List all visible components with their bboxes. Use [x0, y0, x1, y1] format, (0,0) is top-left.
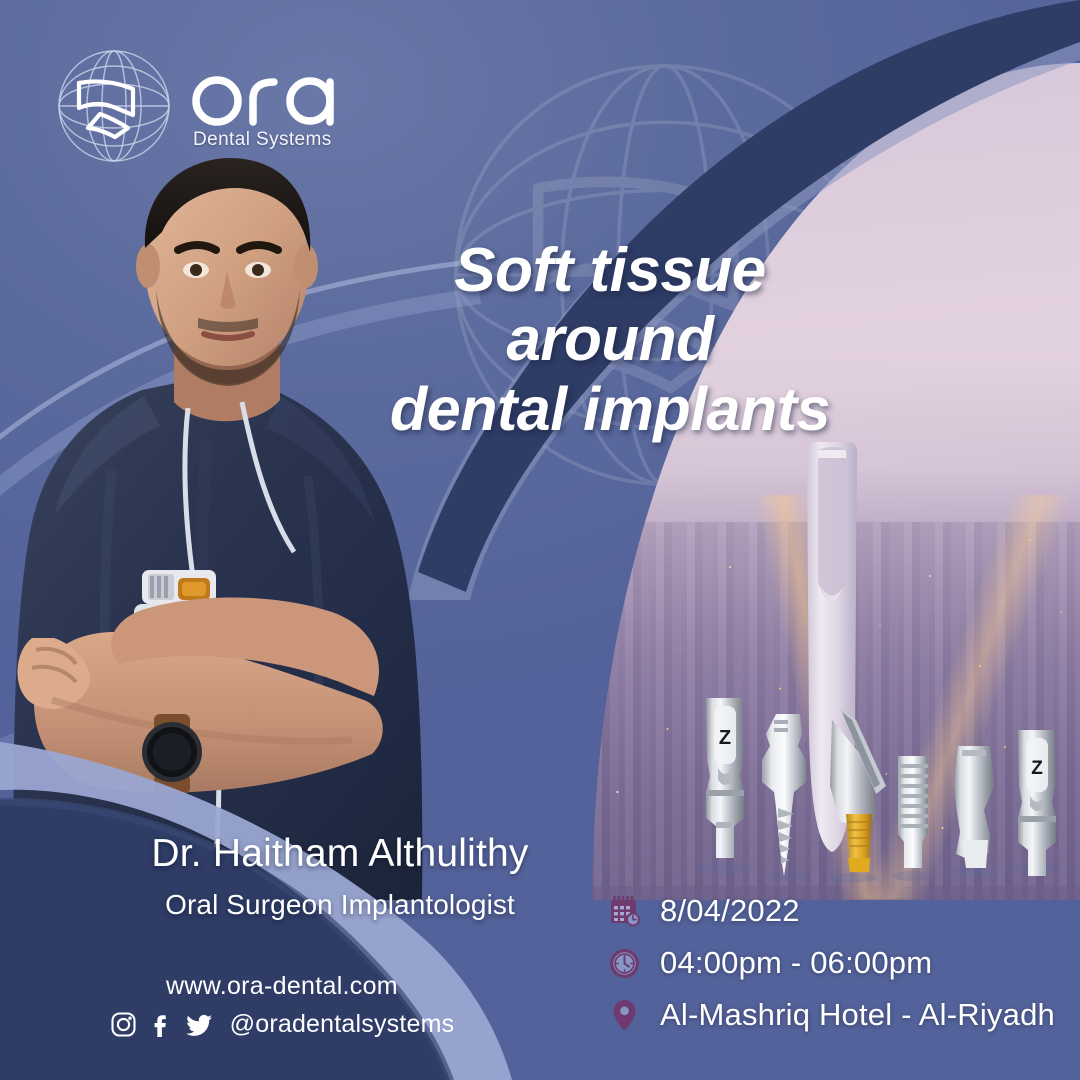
speaker-name: Dr. Haitham Althulithy [70, 832, 610, 876]
globe-tooth-icon [52, 44, 176, 168]
brand-logo: Dental Systems [52, 44, 342, 168]
brand-name-ora [190, 65, 342, 127]
detail-row-time: 04:00pm - 06:00pm [608, 945, 1055, 981]
speaker-role: Oral Surgeon Implantologist [70, 889, 610, 921]
website-link[interactable]: www.ora-dental.com [72, 972, 492, 1001]
social-handle[interactable]: @oradentalsystems [230, 1010, 455, 1039]
clock-icon [608, 946, 641, 981]
detail-value-date: 8/04/2022 [660, 893, 800, 929]
facebook-icon[interactable] [148, 1011, 175, 1038]
contact-block: www.ora-dental.com @oradentalsystems [72, 972, 492, 1039]
detail-row-date: 8/04/2022 [608, 893, 1055, 929]
svg-text:Z: Z [1031, 758, 1043, 779]
dental-implant-products: Z [690, 690, 1070, 890]
event-poster: Z [0, 0, 1080, 1080]
brand-tagline: Dental Systems [193, 129, 342, 151]
location-pin-icon [608, 998, 641, 1033]
twitter-icon[interactable] [186, 1011, 213, 1038]
detail-value-venue: Al-Mashriq Hotel - Al-Riyadh [660, 997, 1055, 1033]
title-line-2: dental implants [360, 375, 860, 443]
page-title: Soft tissue around dental implants [360, 236, 860, 443]
speaker-block: Dr. Haitham Althulithy Oral Surgeon Impl… [70, 832, 610, 921]
brand-wordmark: Dental Systems [190, 61, 342, 151]
event-details: 8/04/2022 04:00pm - 06:00pm [608, 893, 1055, 1033]
svg-text:Z: Z [719, 727, 731, 749]
calendar-clock-icon [608, 894, 641, 929]
social-links: @oradentalsystems [72, 1010, 492, 1039]
instagram-icon[interactable] [110, 1011, 137, 1038]
detail-row-venue: Al-Mashriq Hotel - Al-Riyadh [608, 997, 1055, 1033]
detail-value-time: 04:00pm - 06:00pm [660, 945, 932, 981]
title-line-1: Soft tissue around [360, 236, 860, 375]
